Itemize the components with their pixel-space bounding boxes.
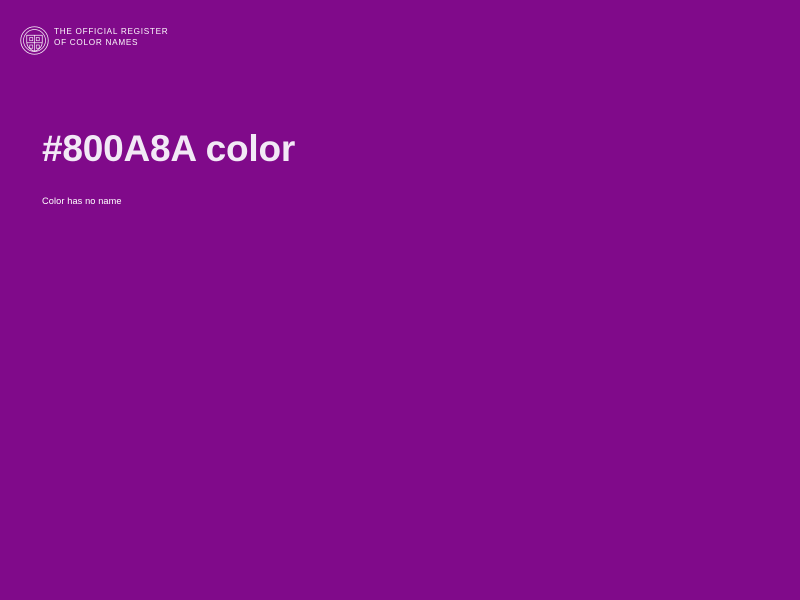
page-title: #800A8A color bbox=[42, 126, 742, 172]
color-name-status: Color has no name bbox=[42, 195, 742, 208]
color-page: THE OFFICIAL REGISTER OF COLOR NAMES #80… bbox=[0, 0, 800, 600]
brand-wordmark: THE OFFICIAL REGISTER OF COLOR NAMES bbox=[54, 27, 168, 48]
color-info-block: #800A8A color Color has no name bbox=[42, 126, 742, 208]
brand-wordmark-line-1: THE OFFICIAL REGISTER bbox=[54, 27, 168, 38]
register-seal-icon bbox=[20, 26, 49, 55]
brand-wordmark-line-2: OF COLOR NAMES bbox=[54, 38, 168, 49]
site-brand-lockup[interactable]: THE OFFICIAL REGISTER OF COLOR NAMES bbox=[20, 26, 168, 55]
